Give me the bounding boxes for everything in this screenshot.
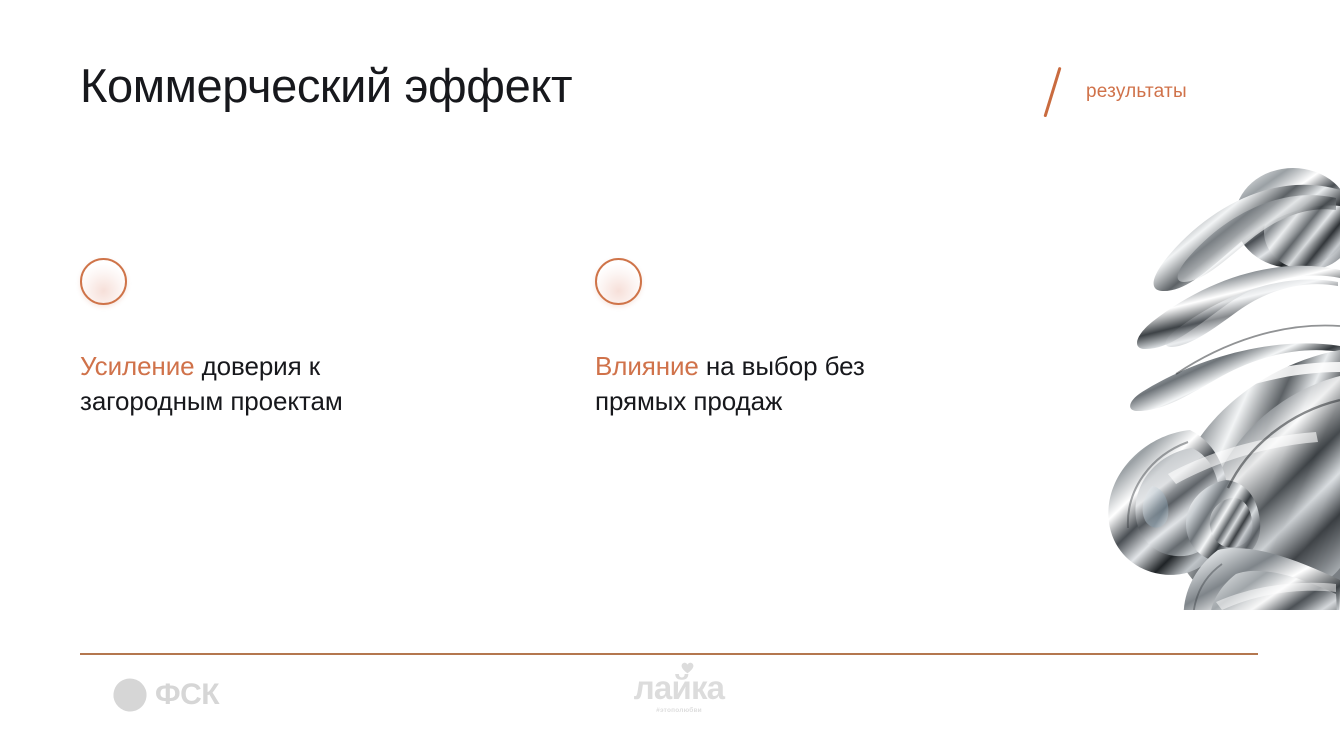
ring-marker-icon — [80, 258, 127, 305]
benefit-card: Влияние на выбор без прямых продаж — [595, 258, 905, 420]
benefit-card: Усиление доверия к загородным проектам — [80, 258, 390, 420]
heart-icon — [681, 662, 694, 674]
benefit-card-list: Усиление доверия к загородным проектам В… — [80, 258, 1080, 420]
footer-divider — [80, 653, 1258, 655]
section-eyebrow: результаты — [1040, 66, 1187, 118]
fsk-logo: ФСК — [112, 677, 219, 713]
page-title: Коммерческий эффект — [80, 58, 572, 113]
chrome-flower-ornament — [1040, 150, 1340, 610]
benefit-card-text: Влияние на выбор без прямых продаж — [595, 349, 905, 420]
slash-icon — [1040, 66, 1066, 118]
ring-marker-icon — [595, 258, 642, 305]
laika-logo: лайка #этополюбви — [621, 671, 737, 714]
section-label: результаты — [1086, 81, 1187, 103]
slide-root: Коммерческий эффект результаты Усиление … — [0, 0, 1340, 754]
benefit-card-text: Усиление доверия к загородным проектам — [80, 349, 390, 420]
benefit-highlight: Усиление — [80, 351, 194, 381]
laika-logo-word: лайка — [621, 671, 737, 704]
benefit-highlight: Влияние — [595, 351, 699, 381]
laika-logo-text: лайка — [634, 669, 724, 706]
fsk-circle-mark-icon — [112, 677, 148, 713]
laika-tagline: #этополюбви — [621, 707, 737, 714]
fsk-logo-word: ФСК — [155, 680, 219, 710]
